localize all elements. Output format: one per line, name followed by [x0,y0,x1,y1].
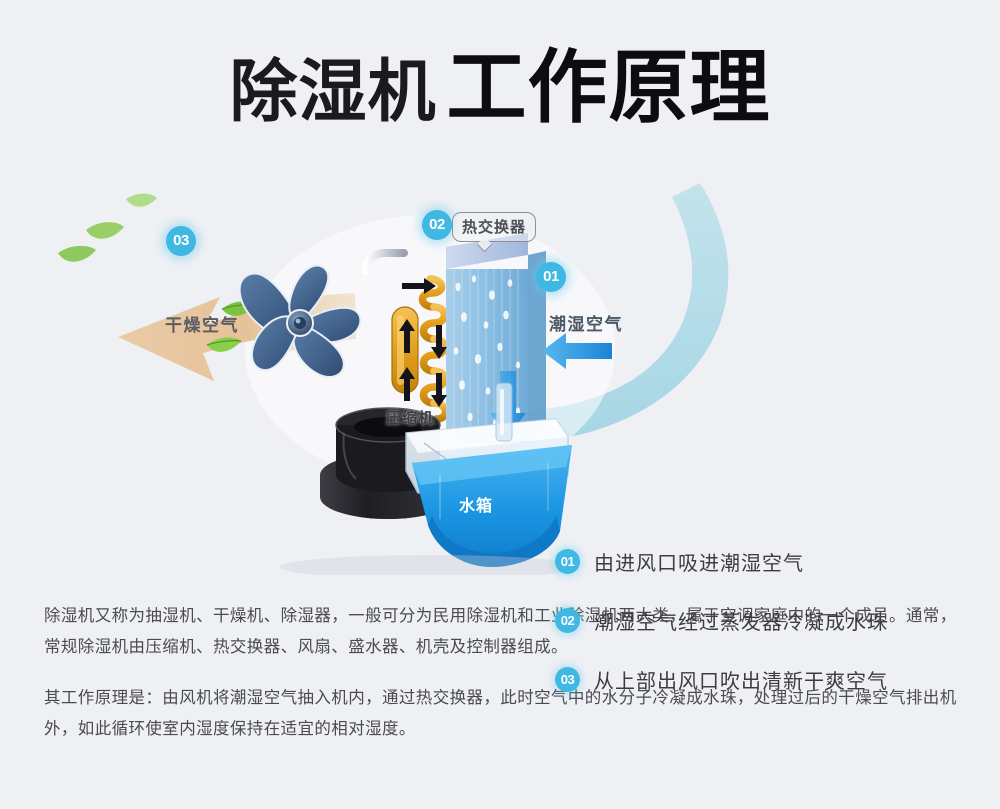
label-water-tank: 水箱 [459,492,493,516]
label-dry-air: 干燥空气 [165,311,239,336]
legend-item-01: 01 由进风口吸进潮湿空气 [555,548,888,574]
dehumidifier-diagram: 03 02 01 热交换器 干燥空气 潮湿空气 压缩机 水箱 01 由进风口吸进… [0,175,1000,575]
legend-item-02: 02 潮湿空气经过蒸发器冷凝成水珠 [555,607,888,633]
label-compressor: 压缩机 [386,407,434,428]
page-title-part2: 工作原理 [447,43,771,132]
label-humid-air: 潮湿空气 [549,310,623,335]
steps-legend: 01 由进风口吸进潮湿空气 02 潮湿空气经过蒸发器冷凝成水珠 03 从上部出风… [555,548,888,725]
badge-01: 01 [536,262,566,292]
drain-tube [496,383,512,441]
legend-text-03: 从上部出风口吹出清新干爽空气 [594,665,888,694]
legend-badge-01: 01 [555,549,580,574]
page-title-part1: 除湿机 [229,54,436,130]
dehumidifier-infographic-page: 除湿机工作原理 [0,0,1000,809]
legend-text-01: 由进风口吸进潮湿空气 [594,547,804,576]
legend-item-03: 03 从上部出风口吹出清新干爽空气 [555,666,888,692]
callout-heat-exchanger: 热交换器 [452,212,536,242]
page-title: 除湿机工作原理 [0,48,1000,128]
legend-text-02: 潮湿空气经过蒸发器冷凝成水珠 [594,606,888,635]
badge-02: 02 [422,210,452,240]
legend-badge-03: 03 [555,667,580,692]
legend-badge-02: 02 [555,608,580,633]
badge-03: 03 [166,226,196,256]
